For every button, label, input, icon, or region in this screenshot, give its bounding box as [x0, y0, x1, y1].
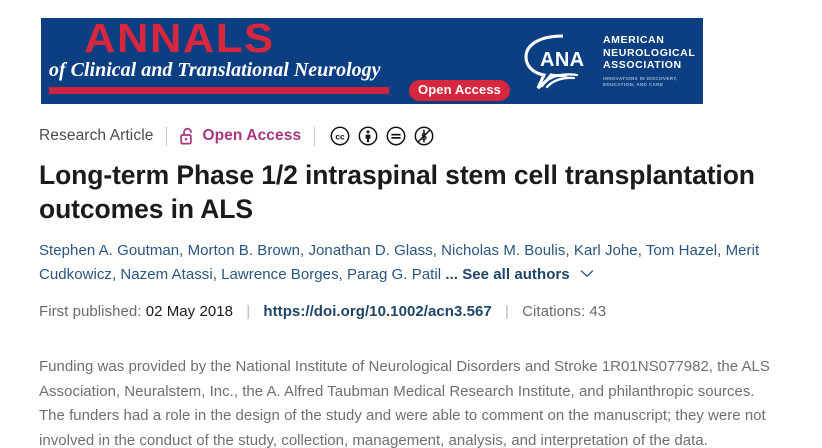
masthead-rule [49, 87, 389, 94]
citations-label: Citations: [522, 303, 585, 320]
open-access-group[interactable]: Open Access [180, 127, 301, 145]
author-line-1: Stephen A. Goutman, Morton B. Brown, Jon… [39, 242, 721, 259]
creative-commons-icon[interactable]: cc [330, 126, 350, 146]
svg-text:cc: cc [336, 131, 346, 141]
open-access-link[interactable]: Open Access [202, 127, 301, 145]
society-tagline-2: EDUCATION, AND CARE [603, 82, 703, 88]
cc-nd-noderivatives-icon[interactable] [386, 126, 406, 146]
cc-nc-noncommercial-icon[interactable]: S [414, 126, 434, 146]
license-icon-group[interactable]: cc S [330, 126, 434, 146]
funding-statement: Funding was provided by the National Ins… [39, 355, 783, 448]
chevron-down-icon[interactable] [580, 269, 594, 278]
divider [166, 127, 167, 146]
journal-subtitle: of Clinical and Translational Neurology [49, 58, 381, 82]
first-published-label: First published: [39, 303, 142, 320]
open-lock-icon [180, 127, 195, 145]
author-list: Stephen A. Goutman, Morton B. Brown, Jon… [39, 239, 784, 287]
meta-separator: | [246, 303, 250, 320]
society-name: AMERICAN NEUROLOGICAL ASSOCIATION INNOVA… [603, 34, 703, 88]
society-line-2: NEUROLOGICAL [603, 47, 703, 60]
journal-name: ANNALS [84, 18, 275, 60]
article-type-label: Research Article [39, 127, 153, 145]
doi-link[interactable]: https://doi.org/10.1002/acn3.567 [263, 303, 491, 320]
society-logo: ANA AMERICAN NEUROLOGICAL ASSOCIATION IN… [519, 28, 703, 96]
journal-banner: ANNALS of Clinical and Translational Neu… [41, 18, 703, 104]
meta-separator: | [505, 303, 509, 320]
first-published-date: 02 May 2018 [146, 303, 233, 320]
divider [314, 127, 315, 146]
cc-by-attribution-icon[interactable] [358, 126, 378, 146]
society-line-1: AMERICAN [603, 34, 703, 47]
ana-speech-brain-icon: ANA [519, 30, 597, 94]
publication-meta: First published: 02 May 2018 | https://d… [39, 301, 606, 323]
article-type-row: Research Article Open Access cc [39, 124, 434, 148]
society-line-3: ASSOCIATION [603, 59, 703, 72]
svg-text:ANA: ANA [540, 49, 585, 71]
see-all-authors-button[interactable]: ... See all authors [445, 266, 569, 283]
page-title: Long-term Phase 1/2 intraspinal stem cel… [39, 158, 779, 226]
banner-open-access-badge: Open Access [409, 80, 510, 101]
journal-masthead: ANNALS of Clinical and Translational Neu… [41, 18, 461, 104]
article-landing-page: ANNALS of Clinical and Translational Neu… [0, 0, 822, 448]
citations-count: 43 [589, 303, 606, 320]
